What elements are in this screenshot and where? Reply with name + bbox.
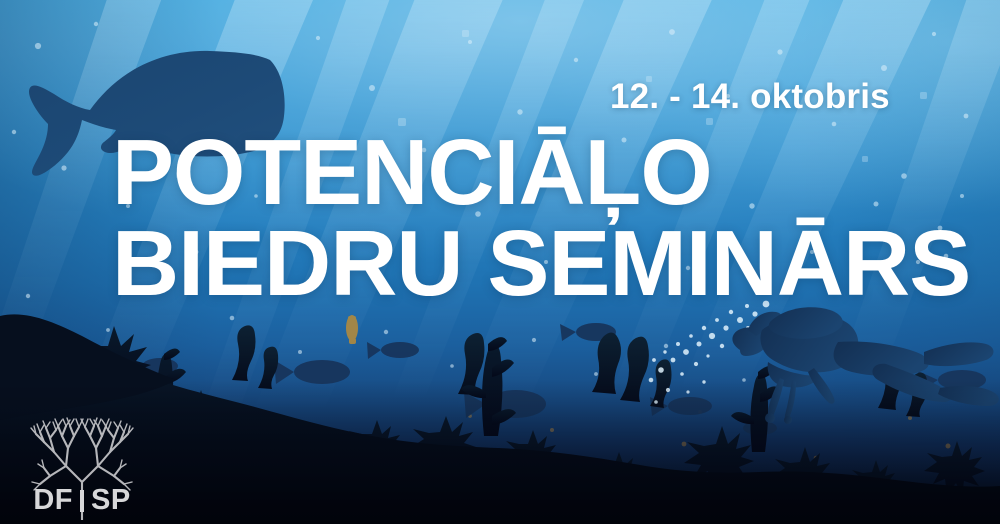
- headline-line-2: BIEDRU SEMINĀRS: [112, 219, 942, 308]
- logo-text-left: DF: [33, 484, 73, 516]
- logo-separator: [80, 490, 84, 512]
- logo-wordmark: DFSP: [16, 484, 148, 517]
- diver-silhouette: [718, 296, 1000, 446]
- page-title: POTENCIĀĻO BIEDRU SEMINĀRS: [112, 128, 942, 309]
- logo-text-right: SP: [91, 484, 131, 516]
- underwater-seminar-banner: 12. - 14. oktobris POTENCIĀĻO BIEDRU SEM…: [0, 0, 1000, 524]
- headline-line-1: POTENCIĀĻO: [112, 128, 942, 217]
- event-date: 12. - 14. oktobris: [610, 77, 890, 117]
